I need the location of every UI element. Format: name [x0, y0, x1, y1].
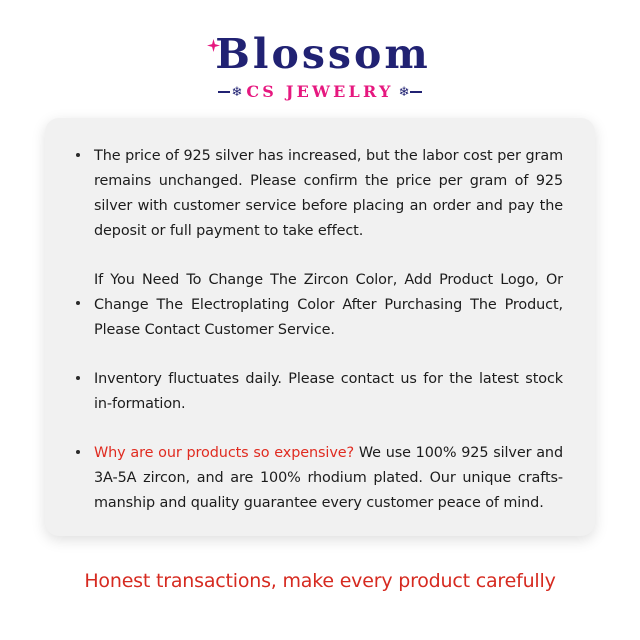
- bullet-icon: [76, 153, 80, 157]
- notice-highlight-text: Why are our products so expensive?: [94, 445, 354, 461]
- brand-subtitle-row: ❄ CS JEWELRY ❄: [0, 82, 640, 101]
- brand-logo-block: Blossom ❄ CS JEWELRY ❄: [0, 30, 640, 101]
- bullet-icon: [76, 376, 80, 380]
- promo-notice-page: Blossom ❄ CS JEWELRY ❄ The price of 925 …: [0, 0, 640, 640]
- notice-list: The price of 925 silver has increased, b…: [72, 144, 563, 516]
- notice-text: Inventory fluctuates daily. Please conta…: [94, 367, 563, 417]
- list-item: If You Need To Change The Zircon Color, …: [72, 268, 563, 343]
- notice-text: If You Need To Change The Zircon Color, …: [94, 268, 563, 343]
- bullet-icon: [76, 301, 80, 305]
- notice-text: The price of 925 silver has increased, b…: [94, 144, 563, 244]
- notice-text-highlighted: Why are our products so expensive? We us…: [94, 441, 563, 516]
- footer-tagline: Honest transactions, make every product …: [0, 568, 640, 594]
- brand-name: Blossom: [209, 30, 430, 78]
- list-item: The price of 925 silver has increased, b…: [72, 144, 563, 244]
- list-item: Why are our products so expensive? We us…: [72, 441, 563, 516]
- bullet-icon: [76, 450, 80, 454]
- flourish-ornament-left-icon: ❄: [218, 85, 241, 98]
- flourish-ornament-right-icon: ❄: [399, 85, 422, 98]
- notice-card: The price of 925 silver has increased, b…: [45, 118, 595, 536]
- sparkle-icon: [207, 39, 220, 52]
- brand-subtitle: CS JEWELRY: [246, 82, 393, 101]
- brand-name-text: Blossom: [215, 30, 430, 78]
- list-item: Inventory fluctuates daily. Please conta…: [72, 367, 563, 417]
